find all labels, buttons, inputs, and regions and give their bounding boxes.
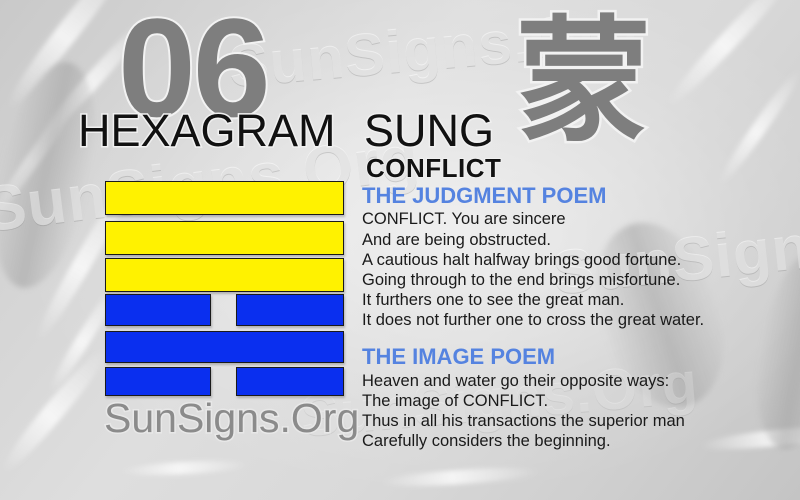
hexagram-pinyin-name: SUNG: [364, 108, 494, 153]
brand-watermark: SunSigns.Org: [104, 398, 359, 439]
judgment-poem-block: THE JUDGMENT POEM CONFLICT. You are sinc…: [362, 183, 792, 331]
hexagram-line-4: [105, 258, 344, 292]
hexagram-infographic: SunSigns.Org SunSigns.Org SunSigns.Org S…: [0, 0, 800, 500]
judgment-poem-line: And are being obstructed.: [362, 230, 792, 250]
line-segment-right: [236, 294, 344, 326]
image-poem-line: Heaven and water go their opposite ways:: [362, 371, 792, 391]
image-poem-heading: THE IMAGE POEM: [362, 344, 792, 369]
line-segment-left: [105, 367, 211, 396]
judgment-poem-line: CONFLICT. You are sincere: [362, 209, 792, 229]
page-title: HEXAGRAM: [78, 108, 336, 153]
line-segment: [105, 331, 344, 363]
image-poem-line: The image of CONFLICT.: [362, 391, 792, 411]
hexagram-english-name: CONFLICT: [366, 155, 501, 181]
judgment-poem-line: It does not further one to cross the gre…: [362, 310, 792, 330]
line-segment: [105, 221, 344, 255]
poem-panel: THE JUDGMENT POEM CONFLICT. You are sinc…: [362, 183, 792, 452]
line-segment: [105, 181, 344, 215]
line-segment-right: [236, 367, 344, 396]
judgment-poem-heading: THE JUDGMENT POEM: [362, 183, 792, 208]
image-poem-line: Thus in all his transactions the superio…: [362, 411, 792, 431]
hexagram-line-2: [105, 331, 344, 363]
line-segment: [105, 258, 344, 292]
judgment-poem-line: It furthers one to see the great man.: [362, 290, 792, 310]
hexagram-line-5: [105, 221, 344, 255]
judgment-poem-line: Going through to the end brings misfortu…: [362, 270, 792, 290]
image-poem-line: Carefully considers the beginning.: [362, 431, 792, 451]
hexagram-chinese-character: 蒙: [516, 14, 651, 149]
image-poem-block: THE IMAGE POEM Heaven and water go their…: [362, 344, 792, 452]
hexagram-line-6: [105, 181, 344, 215]
line-segment-left: [105, 294, 211, 326]
hexagram-line-1: [105, 367, 344, 396]
hexagram-lines-figure: [105, 181, 344, 396]
hexagram-line-3: [105, 294, 344, 326]
judgment-poem-line: A cautious halt halfway brings good fort…: [362, 250, 792, 270]
